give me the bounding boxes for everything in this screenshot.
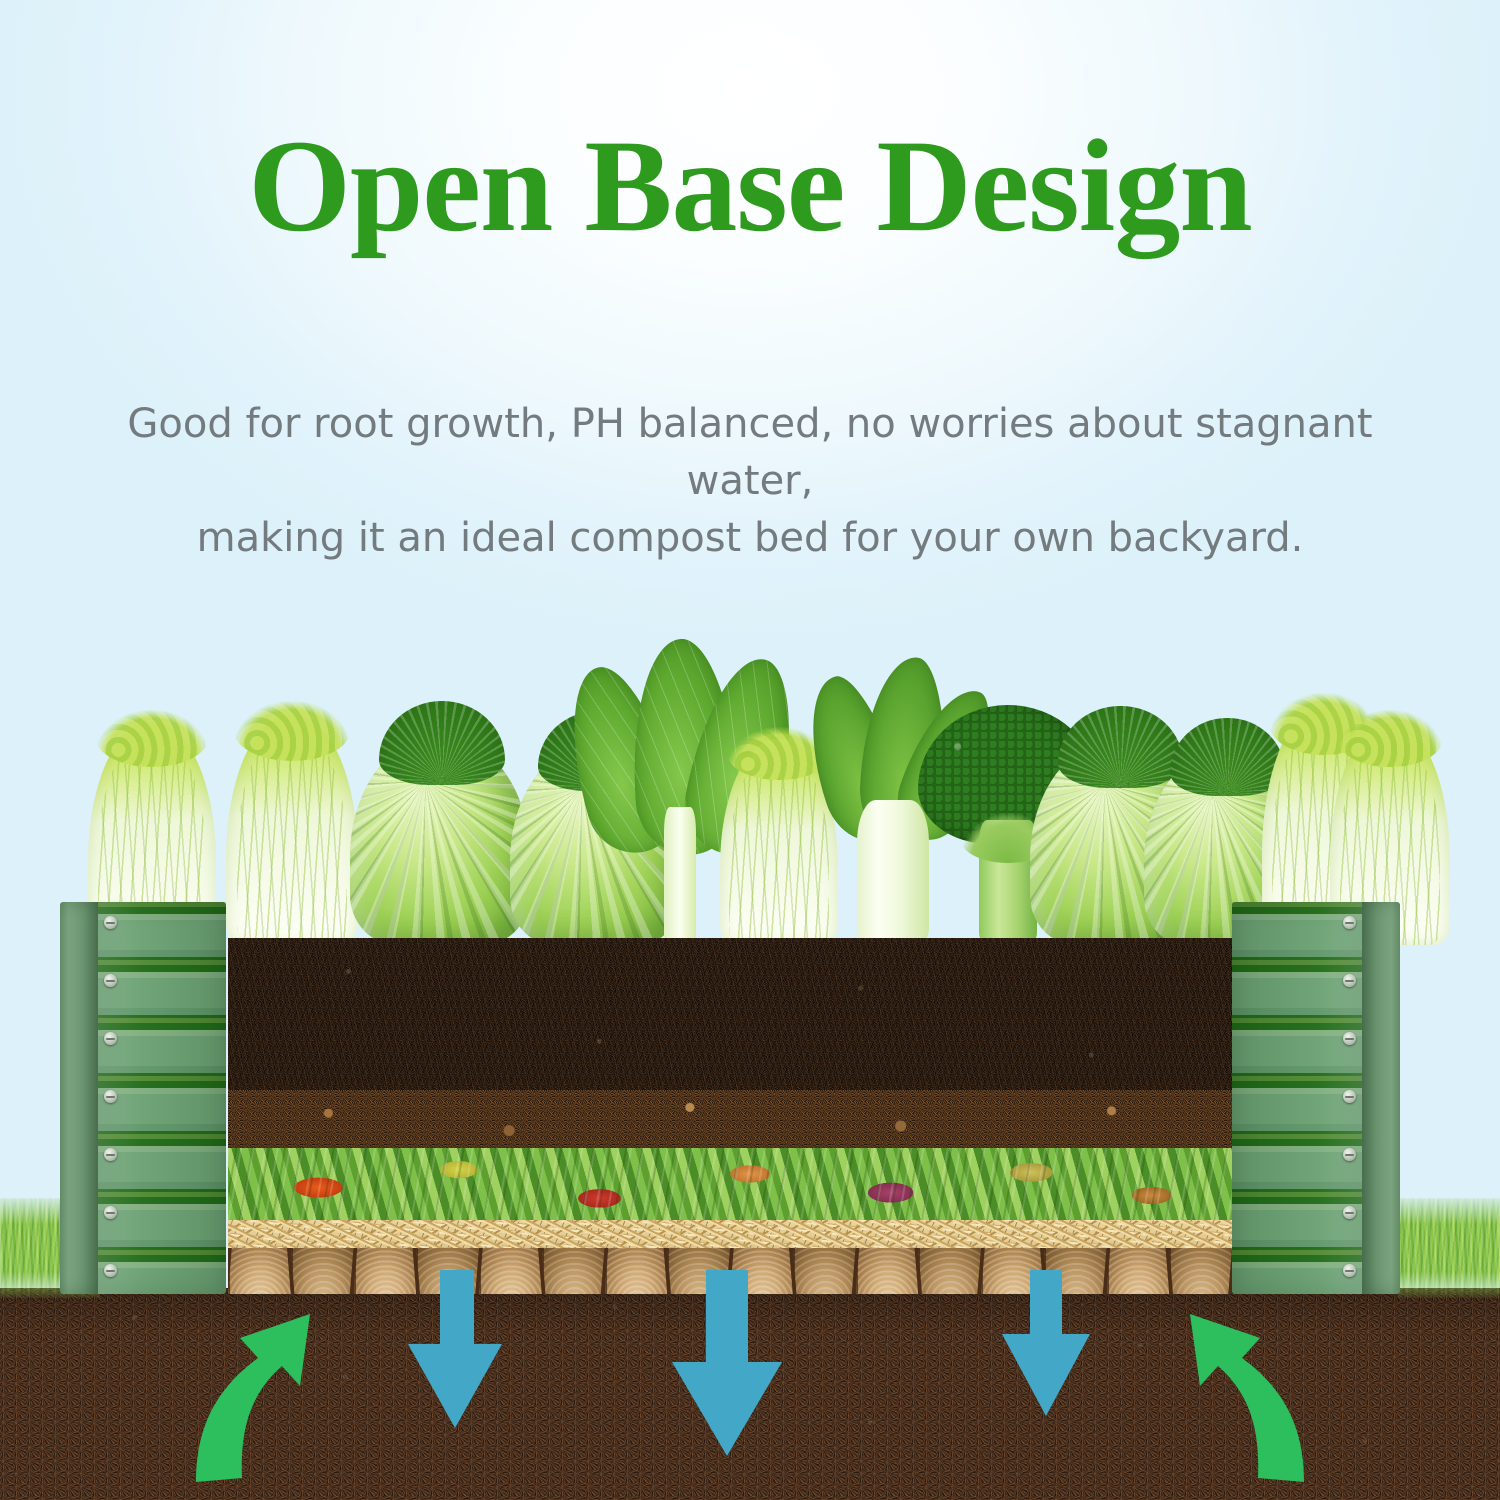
screw bbox=[104, 1032, 117, 1045]
blue-down-arrow-icon bbox=[408, 1270, 502, 1428]
cross-section-caption: Compost bed cross section bbox=[0, 0, 1, 1]
screw bbox=[1343, 1264, 1356, 1277]
vegetable-row bbox=[0, 600, 1500, 945]
screw bbox=[1343, 1090, 1356, 1103]
page-subtitle: Good for root growth, PH balanced, no wo… bbox=[0, 396, 1500, 566]
page-title: Open Base Design bbox=[0, 120, 1500, 252]
layer-topsoil bbox=[228, 938, 1232, 1090]
layer-bark-mulch bbox=[228, 1090, 1232, 1148]
broccoli-stalk bbox=[979, 820, 1037, 945]
airflow-arrow-group bbox=[0, 1270, 1500, 1500]
plant-green-cabbage bbox=[350, 735, 530, 945]
plant-napa-cabbage bbox=[226, 715, 358, 945]
raised-bed-panel-right bbox=[1232, 902, 1400, 1294]
blue-arrow-label: Water drains down bbox=[0, 0, 1, 1]
screw bbox=[104, 1090, 117, 1103]
chard-stem bbox=[664, 807, 696, 945]
screw bbox=[104, 916, 117, 929]
corrugated-slats-left bbox=[98, 902, 226, 1294]
screw bbox=[104, 1264, 117, 1277]
screw bbox=[104, 1148, 117, 1161]
corner-post-right bbox=[1362, 902, 1400, 1294]
blue-down-arrow-icon bbox=[1002, 1270, 1090, 1416]
layer-food-scraps bbox=[228, 1148, 1232, 1220]
screw bbox=[1343, 1032, 1356, 1045]
cabbage-crown bbox=[1170, 718, 1285, 796]
product-name: Galvanized Raised Garden Bed bbox=[0, 0, 1, 1]
screw bbox=[1343, 1206, 1356, 1219]
green-up-arrow-icon bbox=[1190, 1314, 1304, 1482]
screw bbox=[104, 974, 117, 987]
screw bbox=[1343, 1148, 1356, 1161]
compost-cross-section bbox=[228, 938, 1232, 1290]
screw bbox=[1343, 916, 1356, 929]
raised-bed-panel-left bbox=[60, 902, 226, 1294]
infographic-canvas: Open Base Design Good for root growth, P… bbox=[0, 0, 1500, 1500]
page-subtitle-line-1: Good for root growth, PH balanced, no wo… bbox=[127, 401, 1372, 504]
screw bbox=[1343, 974, 1356, 987]
cabbage-crown bbox=[379, 701, 505, 785]
green-up-arrow-icon bbox=[196, 1314, 310, 1482]
page-subtitle-line-2: making it an ideal compost bed for your … bbox=[60, 510, 1440, 567]
green-arrow-label: Air and nutrients rise up bbox=[0, 0, 1, 1]
blue-down-arrow-icon bbox=[672, 1270, 782, 1456]
corner-post-left bbox=[60, 902, 98, 1294]
screw bbox=[104, 1206, 117, 1219]
